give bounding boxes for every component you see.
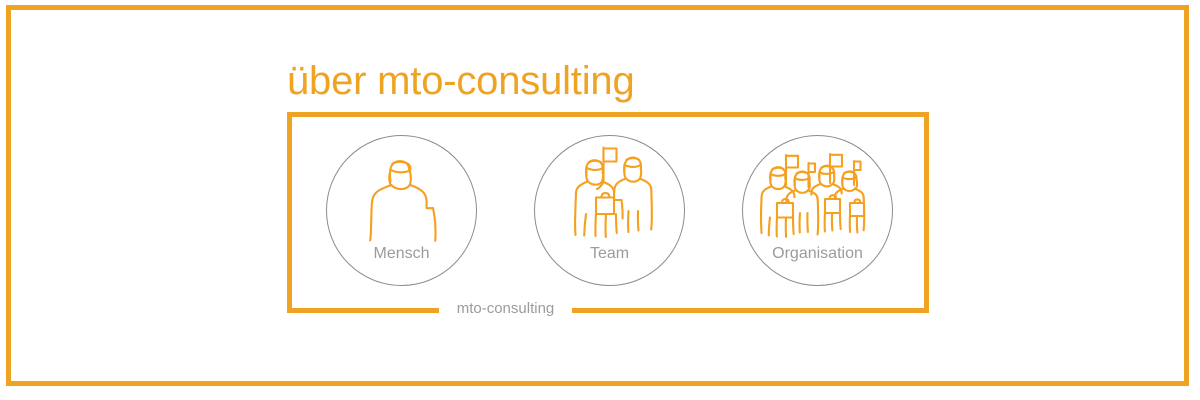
circle-item-organisation[interactable]: Organisation <box>742 135 893 286</box>
circle-label: Organisation <box>742 243 893 265</box>
page-title: über mto-consulting <box>287 58 635 104</box>
single-person-outline-icon <box>326 141 477 251</box>
circle-label: Mensch <box>326 243 477 265</box>
circle-item-team[interactable]: Team <box>534 135 685 286</box>
large-group-outline-icon <box>742 141 893 251</box>
circle-item-mensch[interactable]: Mensch <box>326 135 477 286</box>
content-frame-caption: mto-consulting <box>439 299 572 319</box>
content-frame-bottom-left-segment <box>287 308 439 313</box>
circle-label: Team <box>534 243 685 265</box>
content-frame-bottom-right-segment <box>572 308 929 313</box>
slide-canvas: über mto-consulting mto-consulting Mensc <box>0 0 1200 400</box>
small-group-outline-icon <box>534 141 685 251</box>
